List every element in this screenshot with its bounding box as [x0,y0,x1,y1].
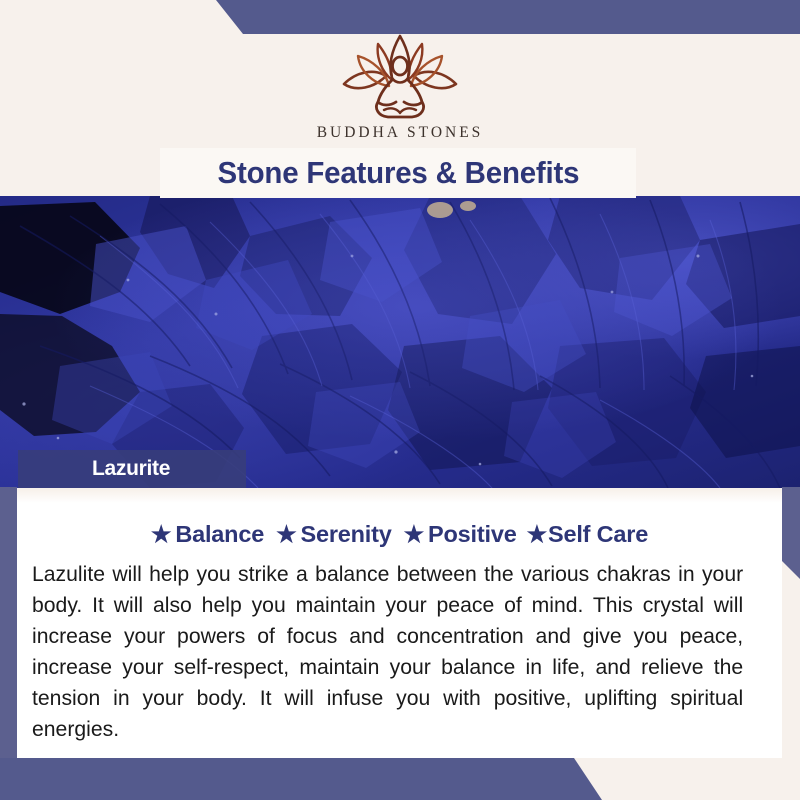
lotus-meditation-icon [334,32,466,120]
star-icon: ★ [404,523,424,546]
top-band-purple-shape [0,0,800,34]
benefit-label: Positive [428,521,517,548]
top-decorative-band [0,0,800,34]
star-icon: ★ [276,523,296,546]
left-accent-strip [0,487,17,760]
benefit-item-positive: ★ Positive [404,521,517,548]
bottom-decorative-band [0,758,800,800]
stone-name-tag: Lazurite [18,450,246,488]
stone-name: Lazurite [92,457,170,481]
benefit-label: Self Care [548,521,648,548]
brand-name: BUDDHA STONES [317,124,484,142]
benefit-item-balance: ★ Balance [151,521,264,548]
lazurite-stone-photo [0,196,800,488]
benefit-label: Balance [175,521,264,548]
title-banner: Stone Features & Benefits [160,148,636,198]
page-title: Stone Features & Benefits [217,155,579,191]
infographic-poster: BUDDHA STONES Stone Features & Benefits [0,0,800,800]
star-icon: ★ [151,523,171,546]
stone-description: Lazulite will help you strike a balance … [32,559,743,745]
benefit-label: Serenity [300,521,391,548]
benefits-row: ★ Balance ★ Serenity ★ Positive ★ Self C… [17,521,782,548]
content-card: ★ Balance ★ Serenity ★ Positive ★ Self C… [17,489,782,758]
benefit-item-self-care: ★ Self Care [527,521,649,548]
card-top-gradient [17,489,782,503]
star-icon: ★ [527,523,547,546]
benefit-item-serenity: ★ Serenity [276,521,392,548]
